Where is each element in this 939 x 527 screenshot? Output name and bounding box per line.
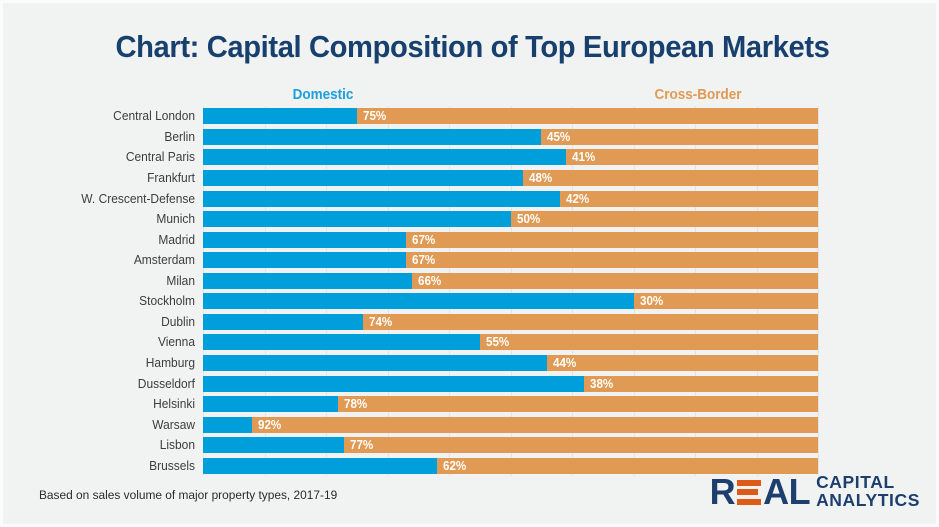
bar-row[interactable]: 67% bbox=[203, 232, 818, 248]
logo-e-bar-bottom bbox=[737, 499, 761, 505]
bar-segment-domestic[interactable] bbox=[203, 129, 541, 145]
logo-wordmark-real: R A L bbox=[710, 474, 811, 510]
bar-segment-cross-border[interactable]: 74% bbox=[363, 314, 818, 330]
bar-segment-cross-border[interactable]: 92% bbox=[252, 417, 818, 433]
logo-letter-r: R bbox=[710, 474, 736, 510]
logo-subtitle-line2: ANALYTICS bbox=[816, 492, 920, 510]
bar-segment-cross-border[interactable]: 44% bbox=[547, 355, 818, 371]
bar-value-label: 48% bbox=[529, 172, 552, 185]
bar-row[interactable]: 45% bbox=[203, 129, 818, 145]
stacked-bar: 78% bbox=[203, 396, 818, 412]
category-label: Hamburg bbox=[13, 355, 195, 371]
bar-value-label: 92% bbox=[258, 418, 281, 431]
bar-segment-cross-border[interactable]: 67% bbox=[406, 252, 818, 268]
bar-value-label: 42% bbox=[566, 192, 589, 205]
bar-segment-domestic[interactable] bbox=[203, 211, 511, 227]
stacked-bar: 42% bbox=[203, 191, 818, 207]
bar-value-label: 50% bbox=[517, 213, 540, 226]
bar-segment-domestic[interactable] bbox=[203, 170, 523, 186]
bar-segment-domestic[interactable] bbox=[203, 293, 634, 309]
bar-row[interactable]: 50% bbox=[203, 211, 818, 227]
stacked-bar: 48% bbox=[203, 170, 818, 186]
bar-row[interactable]: 41% bbox=[203, 149, 818, 165]
bar-segment-cross-border[interactable]: 30% bbox=[634, 293, 819, 309]
bar-segment-domestic[interactable] bbox=[203, 273, 412, 289]
bar-segment-domestic[interactable] bbox=[203, 458, 437, 474]
bar-value-label: 78% bbox=[344, 398, 367, 411]
stacked-bar: 74% bbox=[203, 314, 818, 330]
bar-segment-cross-border[interactable]: 38% bbox=[584, 376, 818, 392]
bar-segment-domestic[interactable] bbox=[203, 376, 584, 392]
real-capital-analytics-logo: R A L CAPITAL ANALYTICS bbox=[710, 470, 920, 514]
legend-item-cross-border: Cross-Border bbox=[586, 87, 809, 103]
bar-segment-domestic[interactable] bbox=[203, 355, 547, 371]
bar-value-label: 44% bbox=[553, 357, 576, 370]
bar-segment-cross-border[interactable]: 42% bbox=[560, 191, 818, 207]
stacked-bar: 92% bbox=[203, 417, 818, 433]
bar-row[interactable]: 30% bbox=[203, 293, 818, 309]
bar-row[interactable]: 66% bbox=[203, 273, 818, 289]
bar-row[interactable]: 75% bbox=[203, 108, 818, 124]
stacked-bar: 38% bbox=[203, 376, 818, 392]
bar-row[interactable]: 78% bbox=[203, 396, 818, 412]
bar-segment-domestic[interactable] bbox=[203, 396, 338, 412]
category-axis-labels: Central LondonBerlinCentral ParisFrankfu… bbox=[3, 106, 195, 476]
category-label: Dublin bbox=[13, 314, 195, 330]
bar-segment-cross-border[interactable]: 48% bbox=[523, 170, 818, 186]
bar-value-label: 41% bbox=[572, 151, 595, 164]
chart-footnote: Based on sales volume of major property … bbox=[39, 488, 337, 502]
bar-row[interactable]: 74% bbox=[203, 314, 818, 330]
bar-row[interactable]: 67% bbox=[203, 252, 818, 268]
logo-subtitle: CAPITAL ANALYTICS bbox=[816, 474, 920, 510]
bar-row[interactable]: 92% bbox=[203, 417, 818, 433]
category-label: Central Paris bbox=[13, 149, 195, 165]
category-label: W. Crescent-Defense bbox=[13, 191, 195, 207]
bar-segment-domestic[interactable] bbox=[203, 314, 363, 330]
bar-segment-domestic[interactable] bbox=[203, 417, 252, 433]
bar-row[interactable]: 42% bbox=[203, 191, 818, 207]
bar-row[interactable]: 77% bbox=[203, 437, 818, 453]
category-label: Madrid bbox=[13, 232, 195, 248]
stacked-bar: 30% bbox=[203, 293, 818, 309]
stacked-bar: 55% bbox=[203, 334, 818, 350]
bar-value-label: 67% bbox=[412, 254, 435, 267]
bar-segment-cross-border[interactable]: 41% bbox=[566, 149, 818, 165]
bar-value-label: 67% bbox=[412, 233, 435, 246]
logo-letter-a: A bbox=[763, 474, 789, 510]
bar-row[interactable]: 55% bbox=[203, 334, 818, 350]
category-label: Berlin bbox=[13, 129, 195, 145]
stacked-bar: 67% bbox=[203, 232, 818, 248]
bar-row[interactable]: 48% bbox=[203, 170, 818, 186]
bar-segment-domestic[interactable] bbox=[203, 108, 357, 124]
category-label: Amsterdam bbox=[13, 252, 195, 268]
bar-rows: 75%45%41%48%42%50%67%67%66%30%74%55%44%3… bbox=[203, 106, 818, 476]
bar-segment-cross-border[interactable]: 45% bbox=[541, 129, 818, 145]
bar-value-label: 74% bbox=[369, 316, 392, 329]
stacked-bar: 45% bbox=[203, 129, 818, 145]
bar-segment-cross-border[interactable]: 66% bbox=[412, 273, 818, 289]
stacked-bar: 44% bbox=[203, 355, 818, 371]
chart-legend: Domestic Cross-Border bbox=[203, 87, 818, 107]
bar-value-label: 75% bbox=[363, 110, 386, 123]
bar-segment-domestic[interactable] bbox=[203, 437, 344, 453]
chart-plot-area: 75%45%41%48%42%50%67%67%66%30%74%55%44%3… bbox=[203, 106, 818, 476]
category-label: Central London bbox=[13, 108, 195, 124]
category-label: Dusseldorf bbox=[13, 376, 195, 392]
logo-letter-l: L bbox=[789, 474, 811, 510]
bar-value-label: 55% bbox=[486, 336, 509, 349]
stacked-bar: 41% bbox=[203, 149, 818, 165]
bar-segment-domestic[interactable] bbox=[203, 149, 566, 165]
stacked-bar: 50% bbox=[203, 211, 818, 227]
bar-segment-cross-border[interactable]: 55% bbox=[480, 334, 818, 350]
bar-segment-domestic[interactable] bbox=[203, 252, 406, 268]
category-label: Helsinki bbox=[13, 396, 195, 412]
category-label: Munich bbox=[13, 211, 195, 227]
logo-e-bars-icon bbox=[737, 480, 761, 505]
stacked-bar: 77% bbox=[203, 437, 818, 453]
bar-segment-domestic[interactable] bbox=[203, 191, 560, 207]
bar-value-label: 66% bbox=[418, 274, 441, 287]
gridline bbox=[818, 106, 819, 476]
legend-item-domestic: Domestic bbox=[211, 87, 434, 103]
bar-segment-cross-border[interactable]: 67% bbox=[406, 232, 818, 248]
category-label: Brussels bbox=[13, 458, 195, 474]
category-label: Frankfurt bbox=[13, 170, 195, 186]
bar-segment-domestic[interactable] bbox=[203, 334, 480, 350]
bar-value-label: 38% bbox=[590, 377, 613, 390]
bar-value-label: 30% bbox=[640, 295, 663, 308]
category-label: Milan bbox=[13, 273, 195, 289]
page-title: Chart: Capital Composition of Top Europe… bbox=[31, 29, 914, 65]
logo-e-bar-middle bbox=[737, 489, 758, 495]
bar-segment-domestic[interactable] bbox=[203, 232, 406, 248]
bar-segment-cross-border[interactable]: 75% bbox=[357, 108, 818, 124]
bar-segment-cross-border[interactable]: 77% bbox=[344, 437, 818, 453]
bar-segment-cross-border[interactable]: 78% bbox=[338, 396, 818, 412]
category-label: Warsaw bbox=[13, 417, 195, 433]
category-label: Stockholm bbox=[13, 293, 195, 309]
chart-slide: Chart: Capital Composition of Top Europe… bbox=[0, 0, 939, 527]
stacked-bar: 66% bbox=[203, 273, 818, 289]
bar-value-label: 45% bbox=[547, 131, 570, 144]
bar-row[interactable]: 38% bbox=[203, 376, 818, 392]
bar-row[interactable]: 44% bbox=[203, 355, 818, 371]
bar-value-label: 62% bbox=[443, 459, 466, 472]
stacked-bar: 75% bbox=[203, 108, 818, 124]
stacked-bar: 67% bbox=[203, 252, 818, 268]
category-label: Lisbon bbox=[13, 437, 195, 453]
bar-segment-cross-border[interactable]: 50% bbox=[511, 211, 819, 227]
category-label: Vienna bbox=[13, 334, 195, 350]
bar-value-label: 77% bbox=[350, 439, 373, 452]
logo-e-bar-top bbox=[737, 480, 761, 486]
